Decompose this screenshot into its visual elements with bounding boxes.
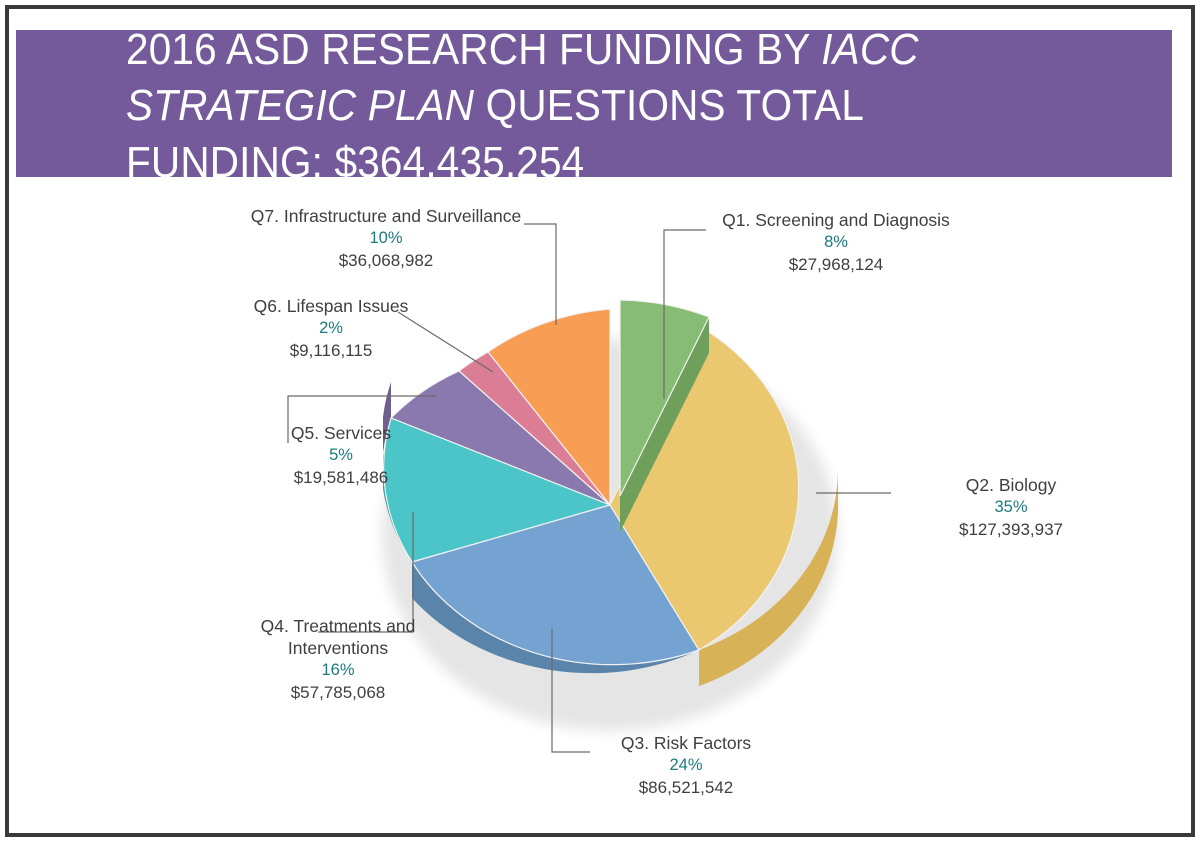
- callout-amount-q6: $9,116,115: [221, 340, 441, 361]
- callout-percent-q5: 5%: [231, 445, 451, 466]
- callout-title-q6: Q6. Lifespan Issues: [221, 295, 441, 317]
- header-banner: 2016 ASD Research Funding by IACC Strate…: [16, 30, 1172, 177]
- callout-title-q2: Q2. Biology: [896, 474, 1126, 496]
- callout-amount-q1: $27,968,124: [706, 254, 966, 275]
- callout-label-q5: Q5. Services 5% $19,581,486: [231, 422, 451, 488]
- callout-amount-q5: $19,581,486: [231, 467, 451, 488]
- callout-title-q5: Q5. Services: [231, 422, 451, 444]
- callout-amount-q7: $36,068,982: [221, 250, 551, 271]
- page-title-part1: 2016 ASD Research Funding by: [126, 25, 821, 74]
- pie-chart-figure: Q1. Screening and Diagnosis 8% $27,968,1…: [16, 177, 1172, 825]
- callout-percent-q4: 16%: [228, 660, 448, 681]
- callout-amount-q2: $127,393,937: [896, 519, 1126, 540]
- callout-title-q1: Q1. Screening and Diagnosis: [706, 209, 966, 231]
- chart-page: 2016 ASD Research Funding by IACC Strate…: [0, 0, 1200, 842]
- callout-label-q6: Q6. Lifespan Issues 2% $9,116,115: [221, 295, 441, 361]
- callout-percent-q6: 2%: [221, 318, 441, 339]
- callout-label-q3: Q3. Risk Factors 24% $86,521,542: [576, 732, 796, 798]
- callout-percent-q7: 10%: [221, 228, 551, 249]
- callout-percent-q3: 24%: [576, 755, 796, 776]
- callout-label-q4: Q4. Treatments and Interventions 16% $57…: [228, 615, 448, 703]
- callout-title-q7: Q7. Infrastructure and Surveillance: [221, 205, 551, 227]
- callout-label-q7: Q7. Infrastructure and Surveillance 10% …: [221, 205, 551, 271]
- callout-title-q4: Q4. Treatments and Interventions: [228, 615, 448, 659]
- page-title: 2016 ASD Research Funding by IACC Strate…: [126, 22, 1048, 191]
- callout-title-q3: Q3. Risk Factors: [576, 732, 796, 754]
- callout-percent-q2: 35%: [896, 497, 1126, 518]
- callout-label-q1: Q1. Screening and Diagnosis 8% $27,968,1…: [706, 209, 966, 275]
- callout-amount-q3: $86,521,542: [576, 777, 796, 798]
- callout-percent-q1: 8%: [706, 232, 966, 253]
- callout-amount-q4: $57,785,068: [228, 682, 448, 703]
- callout-label-q2: Q2. Biology 35% $127,393,937: [896, 474, 1126, 540]
